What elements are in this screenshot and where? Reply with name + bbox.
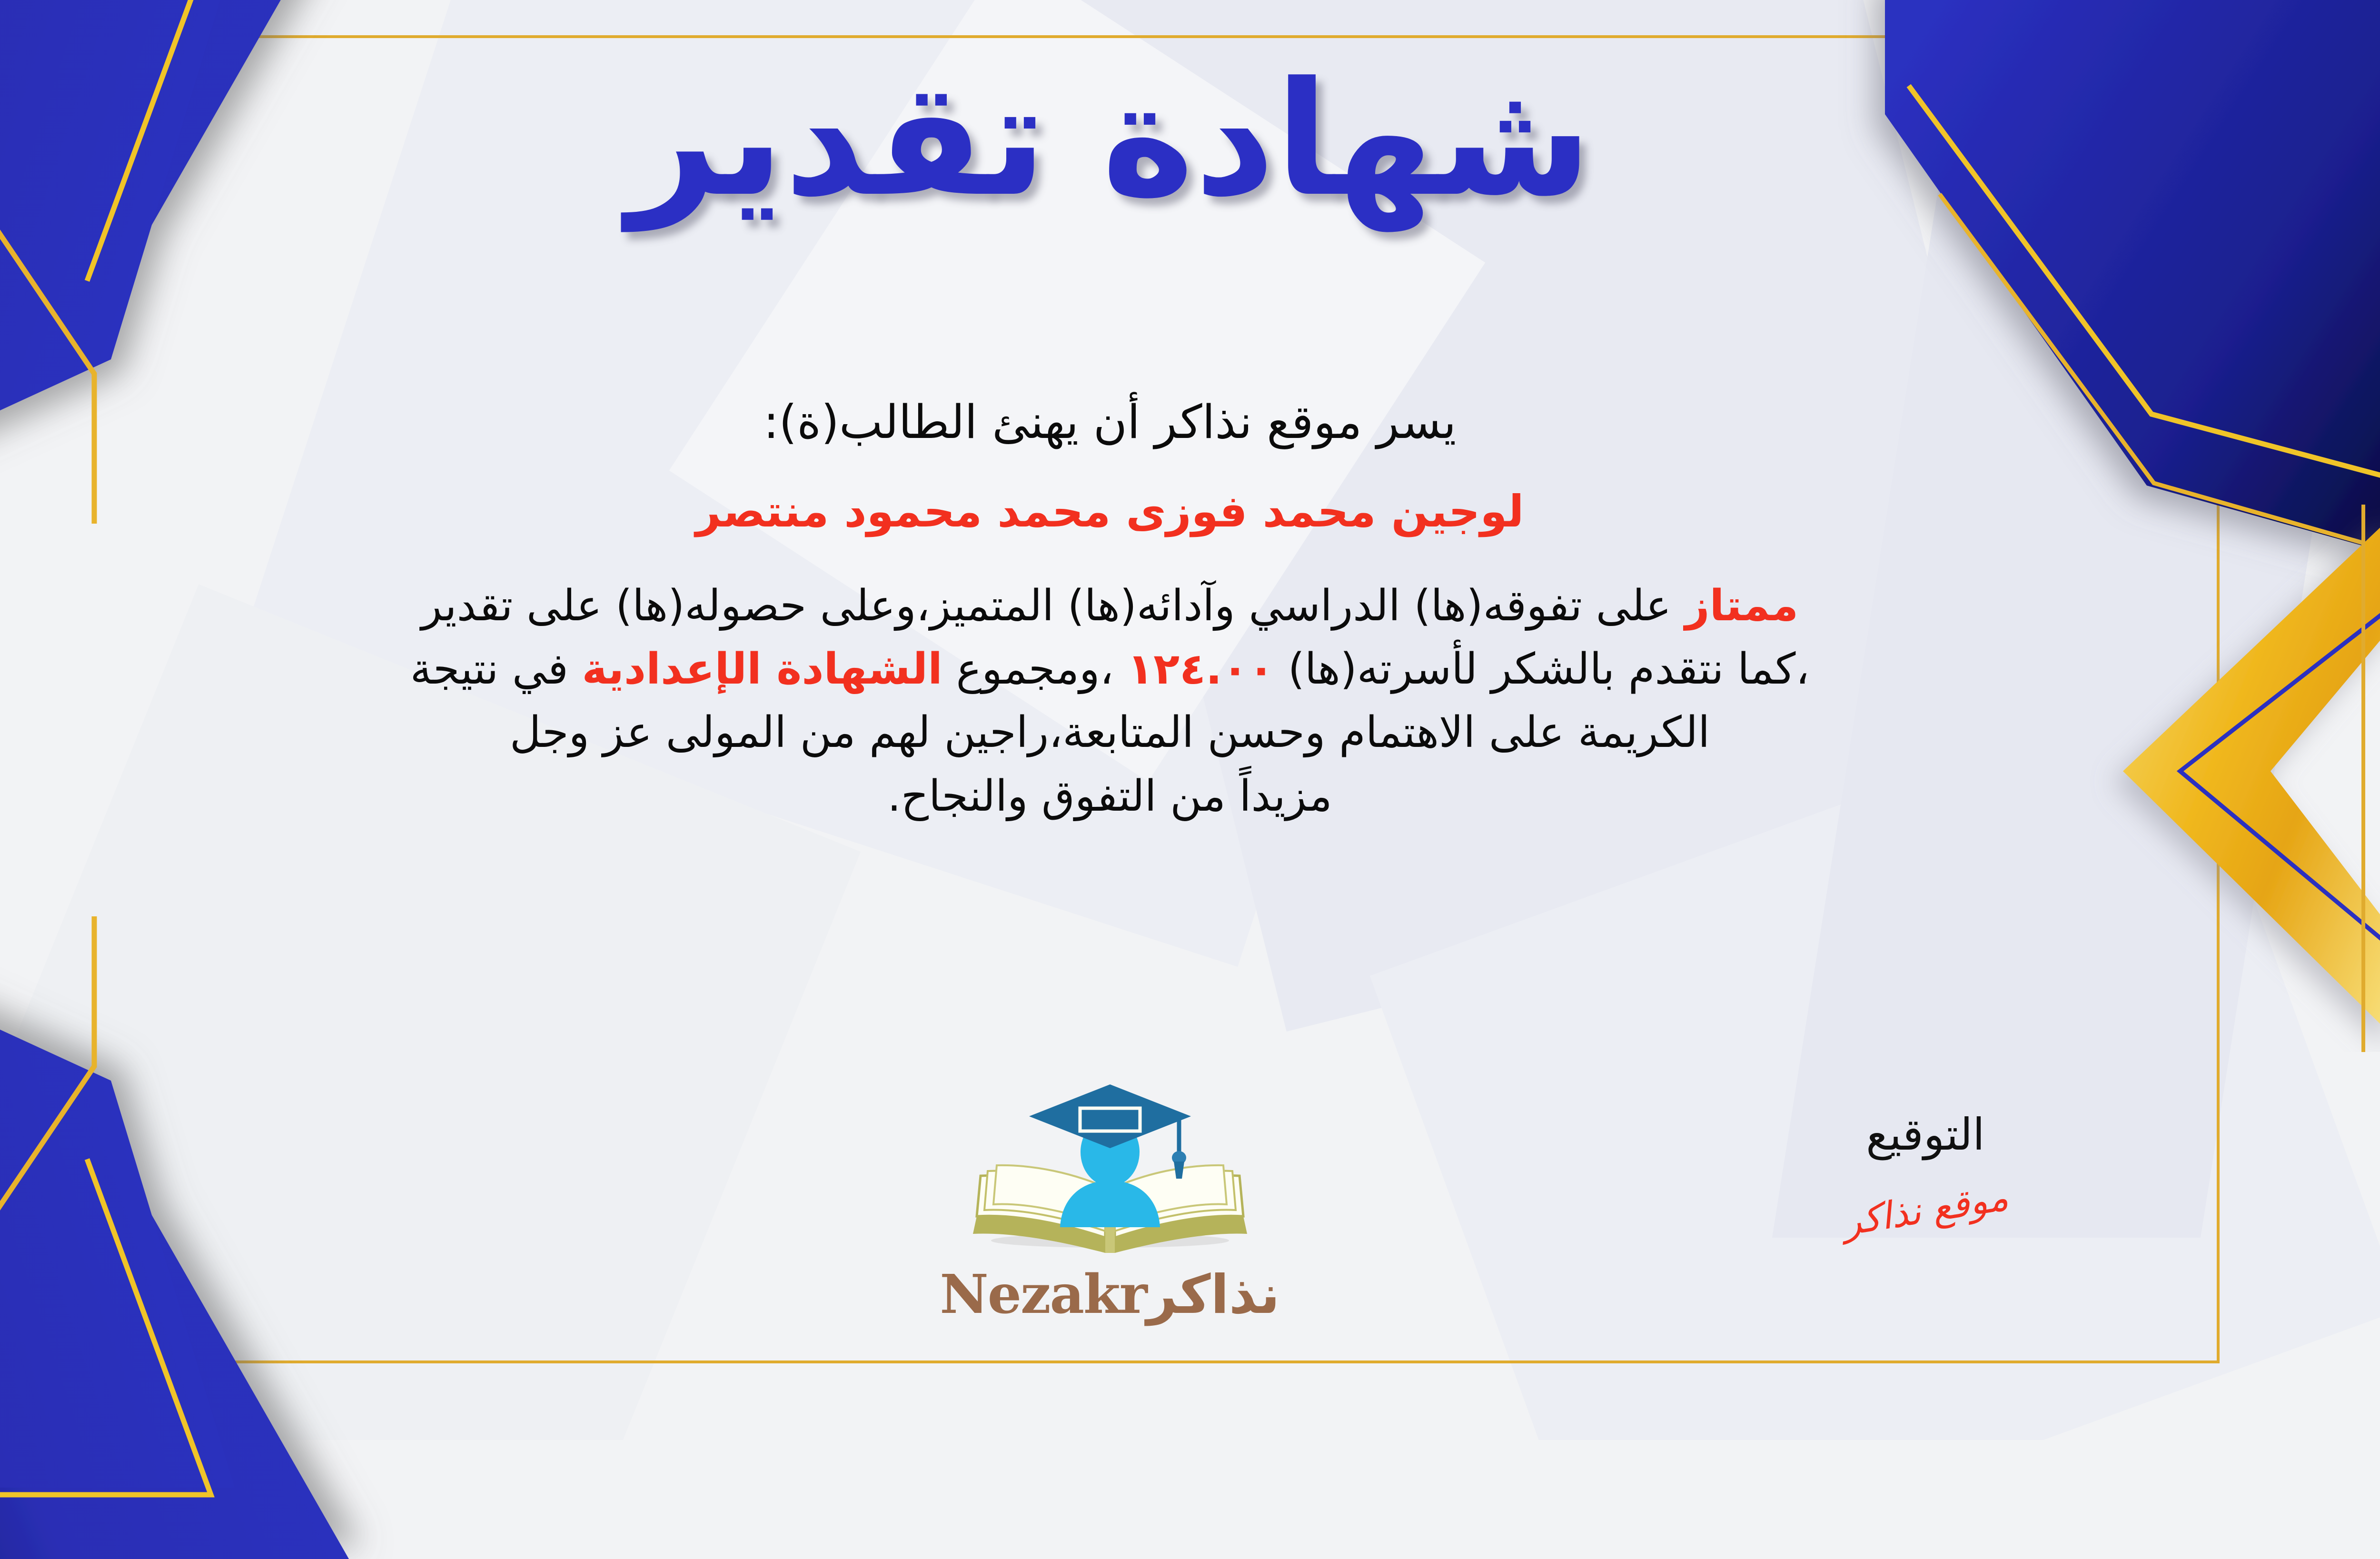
grade-value: ممتاز [1685, 581, 1798, 631]
logo-latin: Nezakr [940, 1263, 1146, 1326]
line2-tail: ،كما نتقدم بالشكر لأسرته(ها) [1288, 644, 1810, 694]
certificate-body: يسر موقع نذاكر أن يهنئ الطالب(ة): لوجين … [0, 395, 2237, 828]
logo-arabic: نذاكر [1147, 1264, 1280, 1326]
paragraph-line-1: ممتاز على تفوقه(ها) الدراسي وآدائه(ها) ا… [0, 574, 2237, 637]
certificate-paragraph: ممتاز على تفوقه(ها) الدراسي وآدائه(ها) ا… [0, 574, 2237, 828]
graduate-book-icon [943, 1081, 1277, 1266]
paragraph-line-3: الكريمة على الاهتمام وحسن المتابعة،راجين… [0, 701, 2237, 764]
corner-decoration-bottom-left [0, 916, 468, 1559]
paragraph-line-2: ،كما نتقدم بالشكر لأسرته(ها) ١٢٤.٠٠ ،ومج… [0, 637, 2237, 701]
total-score: ١٢٤.٠٠ [1127, 644, 1274, 694]
student-name: لوجين محمد فوزى محمد محمود منتصر [0, 486, 2237, 537]
lead-line: يسر موقع نذاكر أن يهنئ الطالب(ة): [0, 395, 2237, 449]
certificate-title: شهادة تقدير [0, 57, 2380, 222]
exam-name: الشهادة الإعدادية [582, 644, 942, 694]
site-logo: Nezakrنذاكر [929, 1081, 1291, 1326]
line2-head: في نتيجة [410, 644, 568, 694]
logo-wordmark: Nezakrنذاكر [929, 1263, 1291, 1326]
paragraph-line-4: مزيداً من التفوق والنجاح. [0, 765, 2237, 828]
signature-block: التوقيع موقع نذاكر [1842, 1109, 2009, 1231]
signature-label: التوقيع [1842, 1109, 2009, 1160]
paragraph-line-1-text: على تفوقه(ها) الدراسي وآدائه(ها) المتميز… [421, 581, 1671, 631]
line2-mid: ،ومجموع [956, 644, 1114, 694]
